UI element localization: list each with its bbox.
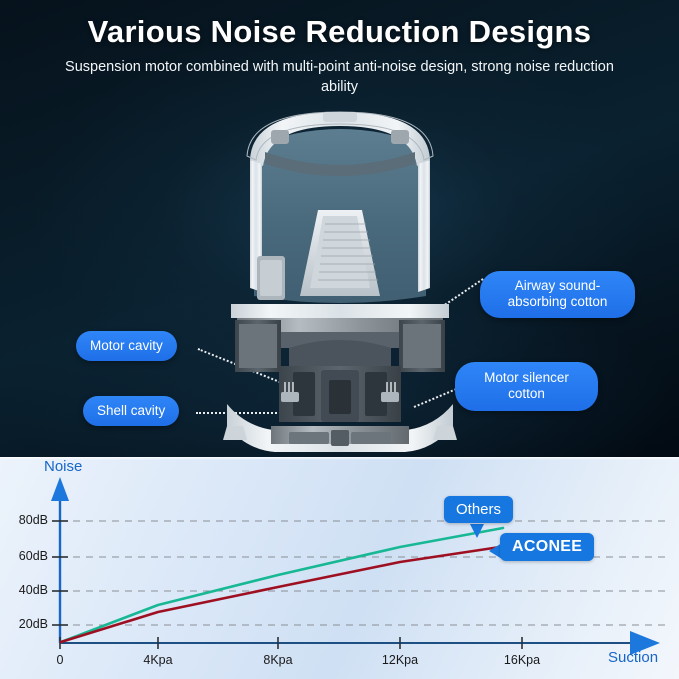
badge-tail-others [470,524,484,538]
callout-shell-cavity[interactable]: Shell cavity [83,396,179,426]
y-axis-title: Noise [44,458,82,475]
x-tick-label-0: 0 [30,653,90,667]
y-tick-label-40db: 40dB [2,583,48,597]
y-axis-arrow [51,477,69,501]
product-infographic: Various Noise Reduction Designs Suspensi… [0,0,679,679]
y-tick-label-80db: 80dB [2,513,48,527]
callout-airway-sound-absorbing-cotton[interactable]: Airway sound- absorbing cotton [480,271,635,318]
series-badge-aconee[interactable]: ACONEE [500,533,594,561]
hero-section: Various Noise Reduction Designs Suspensi… [0,0,679,457]
noise-vs-suction-chart: Noise Suction 80dB 60dB 40dB 20dB 0 4Kpa… [0,457,679,679]
x-tick-label-12kpa: 12Kpa [370,653,430,667]
x-tick-label-4kpa: 4Kpa [128,653,188,667]
chart-canvas [0,457,679,679]
page-title: Various Noise Reduction Designs [0,14,679,50]
x-axis-title: Suction [608,649,658,666]
y-tick-label-20db: 20dB [2,617,48,631]
y-tick-label-60db: 60dB [2,549,48,563]
x-tick-label-16kpa: 16Kpa [492,653,552,667]
series-badge-others[interactable]: Others [444,496,513,523]
callout-motor-silencer-cotton[interactable]: Motor silencer cotton [455,362,598,411]
series-line-aconee [61,547,500,642]
callout-motor-cavity[interactable]: Motor cavity [76,331,177,361]
page-subtitle: Suspension motor combined with multi-poi… [50,58,629,97]
vacuum-cutaway-illustration [219,108,461,453]
x-tick-label-8kpa: 8Kpa [248,653,308,667]
